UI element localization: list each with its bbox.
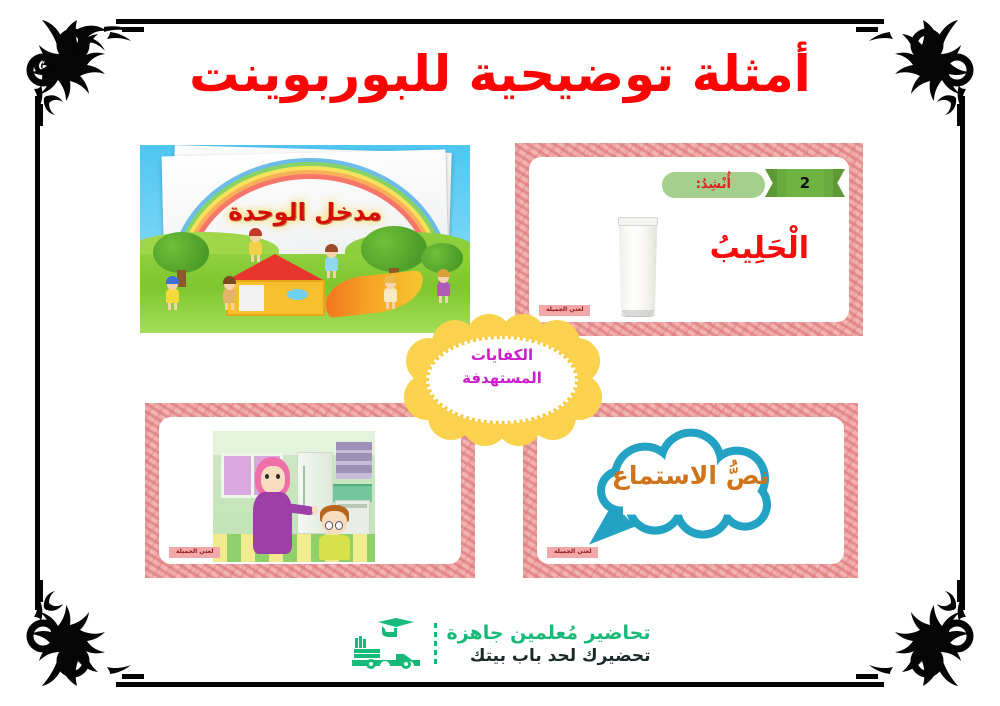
child-figure xyxy=(384,278,397,309)
slide-footer-label: لغتي الجميلة xyxy=(547,547,598,558)
brand-logo: تحاضير مُعلمين جاهزة تحضيرك لحد باب بيتك xyxy=(0,618,1000,670)
frame-line-bottom xyxy=(116,682,884,687)
mother-figure xyxy=(249,457,298,552)
tree-icon xyxy=(153,232,209,288)
ribbon-badge: 2 xyxy=(777,169,833,197)
kitchen-illustration xyxy=(213,431,375,563)
page-title: أمثلة توضيحية للبوربوينت xyxy=(0,48,1000,101)
competencies-label: الكفايات المستهدفة xyxy=(404,344,600,391)
brand-tagline-primary: تحاضير مُعلمين جاهزة xyxy=(447,622,651,644)
delivery-truck-icon xyxy=(350,618,424,670)
intro-heading: مدخل الوحدة xyxy=(140,198,470,226)
frame-line-left xyxy=(35,96,40,610)
child-figure xyxy=(223,279,236,310)
slide-footer-label: لغتي الجميلة xyxy=(539,305,590,316)
anshid-pill-label: أُنْشِدُ: xyxy=(662,172,765,198)
logo-divider xyxy=(434,623,437,665)
child-figure xyxy=(437,272,450,303)
brand-logo-text: تحاضير مُعلمين جاهزة تحضيرك لحد باب بيتك xyxy=(447,622,651,666)
child-figure xyxy=(249,231,262,262)
frame-line-top xyxy=(116,19,884,24)
brand-tagline-secondary: تحضيرك لحد باب بيتك xyxy=(447,646,651,666)
competencies-badge: الكفايات المستهدفة xyxy=(404,326,600,434)
playhouse-icon xyxy=(226,254,325,314)
child-figure xyxy=(166,279,179,310)
slide-card-intro[interactable]: مدخل الوحدة xyxy=(140,145,470,333)
listening-text-label: نصُّ الاستماع xyxy=(539,461,842,490)
boy-figure xyxy=(317,505,353,558)
frame-line-right xyxy=(960,96,965,610)
vocabulary-word: الْحَلِيبُ xyxy=(710,231,809,266)
competencies-line2: المستهدفة xyxy=(404,367,600,390)
milk-glass-icon xyxy=(617,217,659,317)
ribbon-number: 2 xyxy=(786,169,824,197)
slide-footer-label: لغتي الجميلة xyxy=(169,547,220,558)
slide-card-anshid[interactable]: 2 أُنْشِدُ: الْحَلِيبُ لغتي الجميلة xyxy=(515,143,863,336)
child-figure xyxy=(325,247,338,278)
cabinet-shape xyxy=(336,442,372,479)
competencies-line1: الكفايات xyxy=(404,344,600,367)
